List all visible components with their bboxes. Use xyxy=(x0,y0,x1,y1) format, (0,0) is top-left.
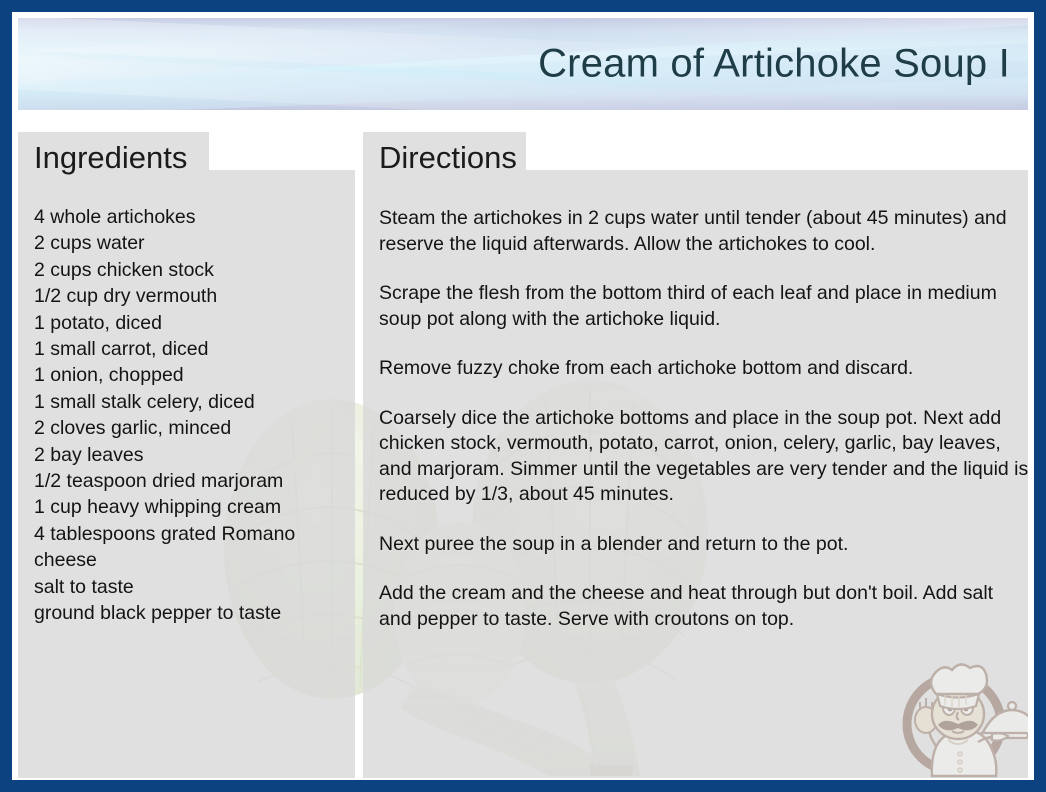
recipe-page: Cream of Artichoke Soup I xyxy=(12,12,1034,780)
list-item: 4 whole artichokes xyxy=(34,204,354,230)
ingredients-list: 4 whole artichokes 2 cups water 2 cups c… xyxy=(34,204,354,627)
list-item: 1 cup heavy whipping cream xyxy=(34,494,354,520)
direction-step: Remove fuzzy choke from each artichoke b… xyxy=(379,356,1029,382)
recipe-card-frame: Cream of Artichoke Soup I xyxy=(0,0,1046,792)
direction-step: Add the cream and the cheese and heat th… xyxy=(379,581,1029,632)
list-item: 1 onion, chopped xyxy=(34,362,354,388)
list-item: 2 cups chicken stock xyxy=(34,257,354,283)
directions-heading: Directions xyxy=(379,140,517,176)
list-item: 2 cups water xyxy=(34,230,354,256)
list-item: 1/2 cup dry vermouth xyxy=(34,283,354,309)
direction-step: Steam the artichokes in 2 cups water unt… xyxy=(379,206,1029,257)
direction-step: Scrape the flesh from the bottom third o… xyxy=(379,281,1029,332)
list-item: ground black pepper to taste xyxy=(34,600,354,626)
list-item: salt to taste xyxy=(34,574,354,600)
directions-list: Steam the artichokes in 2 cups water unt… xyxy=(379,206,1029,632)
list-item: 1 potato, diced xyxy=(34,310,354,336)
list-item: 1/2 teaspoon dried marjoram xyxy=(34,468,354,494)
list-item: 1 small stalk celery, diced xyxy=(34,389,354,415)
recipe-title: Cream of Artichoke Soup I xyxy=(538,42,1010,87)
list-item: 2 bay leaves xyxy=(34,442,354,468)
list-item: 2 cloves garlic, minced xyxy=(34,415,354,441)
list-item: 4 tablespoons grated Romano cheese xyxy=(34,521,354,574)
direction-step: Coarsely dice the artichoke bottoms and … xyxy=(379,406,1029,508)
direction-step: Next puree the soup in a blender and ret… xyxy=(379,532,1029,558)
list-item: 1 small carrot, diced xyxy=(34,336,354,362)
ingredients-heading: Ingredients xyxy=(34,140,187,176)
title-banner: Cream of Artichoke Soup I xyxy=(18,18,1028,110)
